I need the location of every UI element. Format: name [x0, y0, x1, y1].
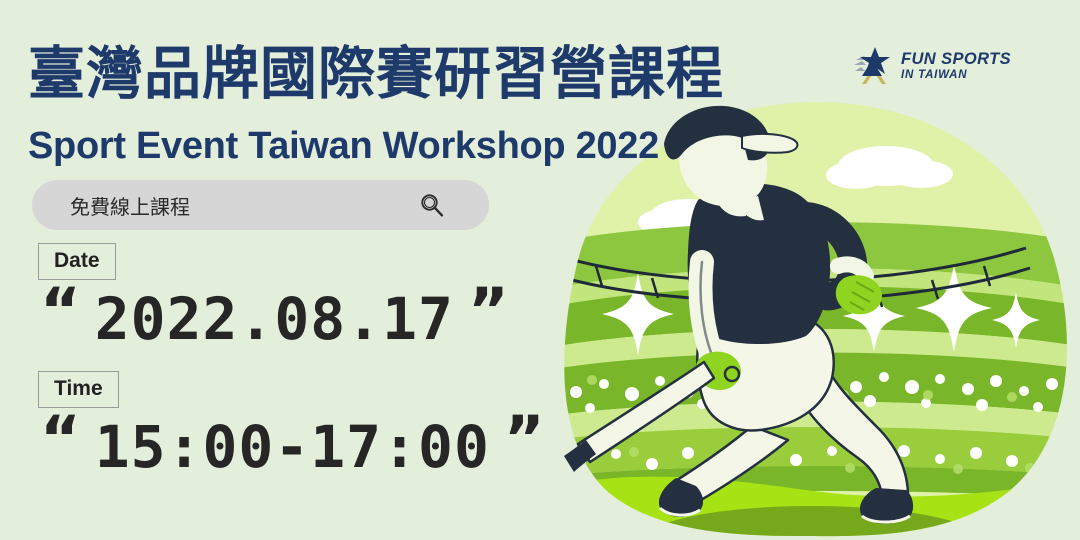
logo-line1: FUN SPORTS: [901, 51, 1011, 68]
quote-close-date: ”: [468, 280, 509, 342]
quote-close-time: ”: [504, 408, 545, 470]
page-title-en: Sport Event Taiwan Workshop 2022: [28, 125, 659, 168]
time-value: 15:00-17:00: [95, 418, 490, 476]
quote-open-date: “: [40, 280, 81, 342]
logo-line2: IN TAIWAN: [901, 70, 1011, 82]
date-value-row: “ 2022.08.17 ”: [40, 288, 509, 350]
search-input[interactable]: 免費線上課程: [70, 191, 190, 220]
quote-open-time: “: [40, 408, 81, 470]
cap-brim: [742, 134, 797, 153]
time-value-row: “ 15:00-17:00 ”: [40, 416, 545, 478]
search-bar[interactable]: 免費線上課程: [32, 180, 489, 230]
page-title-cn: 臺灣品牌國際賽研習營課程: [28, 44, 724, 106]
date-value: 2022.08.17: [95, 290, 454, 348]
search-icon[interactable]: [419, 192, 445, 218]
star-arrow-mountain-icon: [852, 46, 894, 86]
promo-banner: FUN SPORTS IN TAIWAN 臺灣品牌國際賽研習營課程 Sport …: [0, 0, 1080, 540]
fun-sports-in-taiwan-logo[interactable]: FUN SPORTS IN TAIWAN: [852, 46, 1011, 86]
